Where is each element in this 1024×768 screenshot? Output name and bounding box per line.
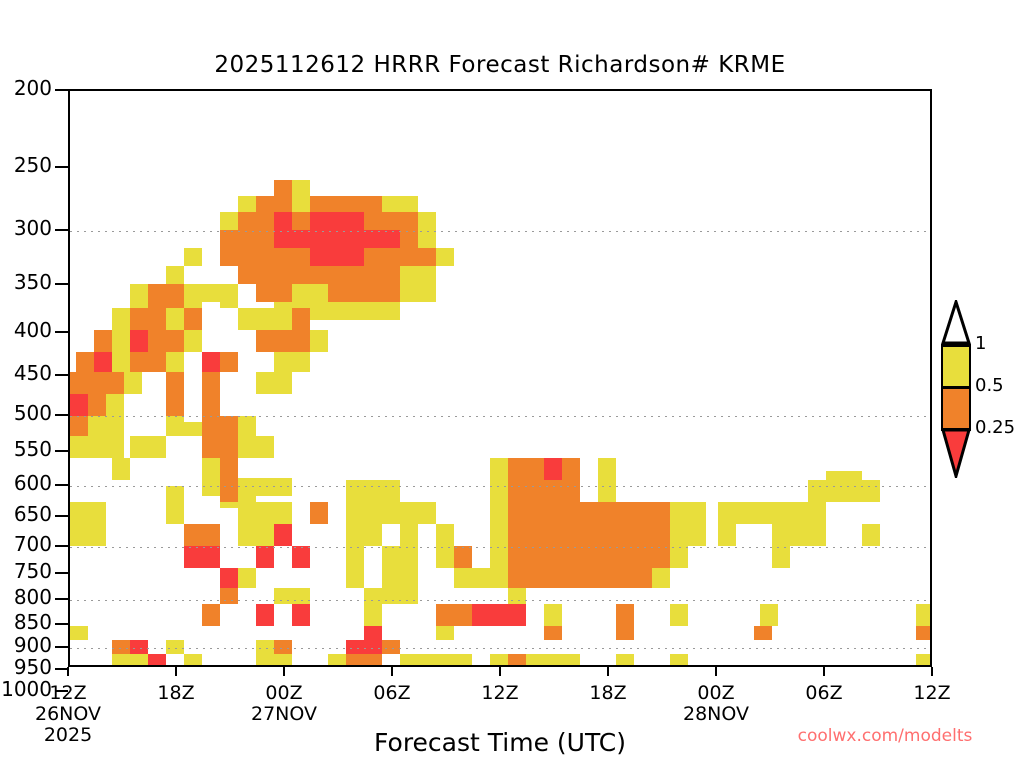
heatmap-cell — [364, 524, 382, 546]
x-axis-title: Forecast Time (UTC) — [160, 728, 840, 757]
heatmap-cell — [202, 394, 220, 416]
heatmap-cell — [166, 416, 184, 436]
heatmap-cell — [346, 480, 382, 502]
x-axis-tick — [391, 667, 393, 676]
y-axis-tick-label: 700 — [0, 532, 52, 556]
heatmap-cell — [364, 212, 418, 230]
heatmap-cell — [400, 524, 418, 546]
heatmap-cell — [70, 524, 106, 546]
heatmap-cell — [490, 524, 508, 546]
heatmap-cell — [166, 372, 184, 394]
colorbar-arrow-top — [941, 300, 971, 344]
y-axis-tick — [55, 646, 68, 648]
heatmap-cell — [346, 524, 364, 546]
heatmap-cell — [202, 372, 220, 394]
heatmap-cell — [184, 546, 220, 568]
heatmap-cell — [274, 212, 292, 230]
heatmap-cell — [202, 458, 220, 480]
heatmap-cell — [400, 248, 436, 266]
heatmap-cell — [364, 248, 400, 266]
heatmap-cell — [220, 436, 238, 458]
heatmap-cell — [220, 480, 238, 502]
heatmap-cell — [382, 640, 400, 654]
heatmap-cell — [256, 248, 310, 266]
heatmap-cell — [70, 416, 88, 436]
heatmap-cell — [112, 330, 130, 352]
heatmap-cell — [220, 568, 238, 588]
heatmap-cell — [166, 640, 184, 654]
y-axis-tick — [55, 229, 68, 231]
heatmap-cell — [274, 230, 328, 248]
heatmap-cell — [436, 248, 454, 266]
heatmap-cell — [274, 654, 292, 667]
heatmap-cell — [148, 284, 166, 308]
colorbar-segment — [941, 344, 971, 386]
heatmap-cell — [256, 604, 274, 626]
x-axis-tick — [715, 667, 717, 676]
heatmap-cell — [310, 330, 328, 352]
heatmap-cell — [70, 626, 88, 640]
heatmap-cell — [70, 436, 88, 458]
heatmap-cell — [490, 458, 508, 480]
heatmap-cell — [88, 416, 124, 436]
heatmap-cell — [184, 284, 202, 308]
heatmap-cell — [580, 524, 670, 546]
heatmap-cell — [166, 394, 184, 416]
heatmap-cell — [364, 302, 400, 320]
heatmap-cell — [238, 568, 256, 588]
heatmap-cell — [616, 654, 634, 667]
y-axis-tick-label: 250 — [0, 153, 52, 177]
heatmap-cell — [772, 546, 790, 568]
heatmap-cell — [292, 352, 310, 372]
heatmap-cell — [328, 654, 346, 667]
y-axis-tick — [55, 450, 68, 452]
x-axis-tick — [931, 667, 933, 676]
y-axis-tick-label: 750 — [0, 559, 52, 583]
colorbar-arrow-bottom — [941, 428, 971, 478]
heatmap-cell — [862, 524, 880, 546]
colorbar-tick-label: 0.5 — [975, 375, 1004, 396]
heatmap-cell — [418, 230, 436, 248]
heatmap-cell — [346, 502, 382, 524]
watermark: coolwx.com/modelts — [760, 726, 1010, 746]
heatmap-cell — [148, 330, 184, 352]
x-axis-tick-label: 06Z — [332, 682, 452, 704]
x-axis-tick — [607, 667, 609, 676]
y-axis-tick-label: 900 — [0, 633, 52, 657]
heatmap-cell — [70, 502, 106, 524]
y-axis-tick-label: 450 — [0, 361, 52, 385]
heatmap-cell — [202, 478, 220, 496]
x-axis-tick-label: 00Z — [224, 682, 344, 704]
heatmap-cell — [562, 458, 580, 480]
x-axis-tick-label: 00Z — [656, 682, 776, 704]
heatmap-cell — [256, 330, 292, 352]
x-axis-tick-label: 12Z — [440, 682, 560, 704]
heatmap-cell — [256, 640, 274, 654]
x-axis-date-label: 27NOV — [224, 703, 344, 725]
heatmap-cell — [166, 352, 184, 372]
y-axis-tick — [55, 283, 68, 285]
heatmap-cell — [382, 546, 418, 568]
heatmap-cell — [364, 604, 382, 626]
heatmap-cell — [346, 546, 364, 568]
heatmap-cell — [916, 626, 932, 640]
heatmap-cell — [220, 248, 256, 266]
heatmap-cell — [490, 654, 508, 667]
heatmap-cell — [256, 436, 274, 458]
heatmap-cell — [826, 471, 862, 502]
heatmap-cell — [400, 284, 436, 302]
x-axis-date-label: 28NOV — [656, 703, 776, 725]
heatmap-cell — [202, 284, 220, 302]
heatmap-cell — [94, 330, 112, 352]
heatmap-cell — [508, 524, 580, 546]
heatmap-cell — [202, 436, 220, 458]
heatmap-cell — [220, 212, 238, 230]
heatmap-cell — [238, 308, 274, 330]
heatmap-cell — [670, 604, 688, 626]
heatmap-cell — [106, 394, 124, 416]
heatmap-cell — [508, 458, 544, 480]
heatmap-cell — [916, 604, 932, 626]
heatmap-cell — [88, 372, 124, 394]
heatmap-cell — [292, 588, 310, 604]
y-axis-tick-label: 300 — [0, 216, 52, 240]
x-axis-tick-label: 06Z — [764, 682, 884, 704]
heatmap-cell — [130, 308, 166, 330]
heatmap-cell — [124, 372, 142, 394]
colorbar: 10.50.25 — [941, 300, 971, 480]
heatmap-cell — [508, 546, 580, 568]
heatmap-cell — [490, 502, 508, 524]
heatmap-cell — [202, 352, 220, 372]
heatmap-cell — [166, 308, 184, 330]
y-axis-tick-label: 200 — [0, 76, 52, 100]
heatmap-cell — [88, 436, 124, 458]
heatmap-cell — [544, 654, 580, 667]
heatmap-cell — [274, 478, 292, 496]
y-axis-tick-label: 650 — [0, 502, 52, 526]
y-axis-tick-label: 350 — [0, 270, 52, 294]
heatmap-cell — [220, 352, 238, 372]
heatmap-cell — [112, 458, 130, 480]
y-axis-tick — [55, 89, 68, 91]
heatmap-cell — [292, 196, 310, 212]
heatmap-cell — [580, 502, 670, 524]
heatmap-cell — [148, 654, 166, 667]
heatmap-cell — [130, 330, 148, 352]
chart-title: 2025112612 HRRR Forecast Richardson# KRM… — [0, 52, 1000, 78]
heatmap-cell — [292, 604, 310, 626]
y-axis-tick-label: 600 — [0, 471, 52, 495]
heatmap-cell — [220, 230, 238, 248]
heatmap-cell — [580, 568, 652, 588]
heatmap-cell — [184, 308, 202, 330]
heatmap-cell — [238, 196, 256, 212]
y-axis-tick — [55, 374, 68, 376]
heatmap-cell — [184, 422, 202, 436]
heatmap-cell — [70, 372, 88, 394]
heatmap-cell — [310, 212, 364, 230]
heatmap-cell — [490, 480, 508, 502]
heatmap-cell — [382, 196, 418, 212]
heatmap-cell — [88, 394, 106, 416]
y-axis-tick — [55, 545, 68, 547]
heatmap-cell — [400, 588, 418, 604]
x-axis-tick-label: 18Z — [116, 682, 236, 704]
heatmap-cell — [130, 284, 148, 308]
y-axis-tick-label: 850 — [0, 610, 52, 634]
heatmap-cell — [328, 230, 400, 248]
heatmap-cell — [598, 480, 616, 502]
x-axis-tick — [823, 667, 825, 676]
heatmap-cell — [220, 416, 238, 436]
heatmap-cell — [292, 284, 328, 302]
heatmap-cell — [670, 654, 688, 667]
heatmap-cell — [544, 604, 562, 626]
heatmap-cell — [616, 626, 634, 640]
heatmap-cell — [256, 654, 274, 667]
heatmap-cell — [508, 654, 526, 667]
heatmap-cell — [760, 604, 778, 626]
heatmap-cell — [292, 546, 310, 568]
y-axis-tick-label: 800 — [0, 585, 52, 609]
x-axis-date-label: 26NOV — [8, 703, 128, 725]
heatmap-cell — [274, 352, 292, 372]
heatmap-cell — [526, 654, 544, 667]
heatmap-cell — [490, 568, 508, 588]
heatmap-cell — [292, 330, 310, 352]
y-axis-tick-label: 500 — [0, 401, 52, 425]
heatmap-cell — [256, 372, 274, 394]
heatmap-cell — [202, 422, 220, 436]
heatmap-cell — [256, 284, 292, 302]
heatmap-cell — [436, 524, 454, 546]
heatmap-cell — [670, 524, 706, 546]
heatmap-cell — [256, 546, 274, 568]
heatmap-cell — [346, 640, 382, 654]
heatmap-plot-area — [68, 89, 932, 667]
heatmap-cell — [112, 308, 130, 330]
y-axis-tick — [55, 484, 68, 486]
heatmap-cell — [310, 502, 328, 524]
heatmap-cell — [274, 372, 292, 394]
heatmap-cell — [112, 654, 130, 667]
heatmap-cell — [364, 588, 400, 604]
heatmap-cell — [166, 284, 184, 308]
heatmap-cell — [130, 352, 166, 372]
heatmap-cell — [508, 568, 580, 588]
heatmap-cell — [184, 524, 220, 546]
heatmap-cell — [436, 546, 454, 568]
y-axis-tick — [55, 166, 68, 168]
x-axis-tick — [499, 667, 501, 676]
x-axis-tick-label: 12Z — [8, 682, 128, 704]
heatmap-cell — [220, 458, 238, 480]
heatmap-cell — [544, 626, 562, 640]
heatmap-cell — [238, 416, 256, 436]
heatmap-cell — [166, 502, 184, 524]
heatmap-cell — [616, 604, 634, 626]
y-axis-tick — [55, 572, 68, 574]
heatmap-cell — [808, 491, 826, 524]
heatmap-cell — [544, 458, 562, 480]
y-axis-tick — [55, 515, 68, 517]
heatmap-cell — [238, 502, 292, 524]
heatmap-cell — [310, 302, 364, 320]
heatmap-cell — [490, 546, 508, 568]
heatmap-cell — [274, 588, 292, 604]
heatmap-cell — [238, 436, 256, 458]
y-axis-tick — [55, 414, 68, 416]
heatmap-cell — [754, 626, 772, 640]
heatmap-cell — [238, 480, 256, 502]
heatmap-cell — [310, 196, 346, 212]
heatmap-cell — [436, 654, 472, 667]
colorbar-divider — [941, 386, 971, 389]
heatmap-cell — [508, 588, 526, 604]
heatmap-cell — [454, 546, 472, 568]
heatmap-cell — [400, 654, 436, 667]
heatmap-cell — [670, 546, 688, 568]
heatmap-cell — [274, 308, 292, 330]
heatmap-cell — [772, 524, 808, 546]
heatmap-cell — [808, 524, 826, 546]
heatmap-cell — [862, 480, 880, 502]
heatmap-cell — [454, 568, 490, 588]
y-axis-tick-label: 400 — [0, 318, 52, 342]
heatmap-cell — [184, 248, 202, 266]
x-axis-tick — [67, 667, 69, 676]
heatmap-cell — [184, 654, 202, 667]
heatmap-cell — [418, 212, 436, 230]
heatmap-cell — [238, 266, 310, 284]
heatmap-cell — [598, 458, 616, 480]
heatmap-cell — [238, 212, 274, 230]
heatmap-cell — [274, 524, 292, 546]
heatmap-cell — [202, 604, 220, 626]
colorbar-tick-label: 1 — [975, 333, 986, 354]
heatmap-cell — [76, 352, 94, 372]
heatmap-cell — [346, 568, 364, 588]
y-axis-tick-label: 550 — [0, 437, 52, 461]
x-axis-tick-label: 18Z — [548, 682, 668, 704]
heatmap-cell — [382, 568, 418, 588]
heatmap-cell — [916, 654, 932, 667]
heatmap-cell — [220, 284, 238, 308]
x-axis-tick — [283, 667, 285, 676]
heatmap-cell — [400, 230, 418, 248]
heatmap-cell — [652, 568, 670, 588]
heatmap-cell — [364, 266, 400, 284]
heatmap-cell — [130, 640, 148, 654]
heatmap-cell — [292, 212, 310, 230]
y-axis-tick-label: 950 — [0, 655, 52, 679]
heatmap-cell — [238, 524, 274, 546]
heatmap-cell — [94, 352, 112, 372]
colorbar-tick-label: 0.25 — [975, 417, 1015, 438]
y-axis-tick — [55, 331, 68, 333]
y-axis-tick — [55, 623, 68, 625]
heatmap-cell — [220, 588, 238, 604]
heatmap-cell — [580, 546, 670, 568]
heatmap-cell — [310, 266, 364, 284]
x-axis-tick-label: 12Z — [872, 682, 992, 704]
heatmap-cell — [364, 626, 382, 640]
heatmap-cell — [328, 284, 400, 302]
heatmap-cell — [400, 266, 436, 284]
heatmap-cell — [718, 524, 736, 546]
heatmap-cell — [772, 502, 808, 524]
x-axis-tick — [175, 667, 177, 676]
y-axis-tick — [55, 598, 68, 600]
x-axis-year-label: 2025 — [8, 724, 128, 746]
heatmap-cell — [508, 480, 562, 502]
heatmap-cell — [382, 502, 436, 524]
heatmap-cell — [310, 248, 364, 266]
heatmap-cell — [508, 502, 580, 524]
heatmap-cells — [70, 91, 930, 665]
heatmap-cell — [382, 480, 400, 502]
heatmap-cell — [130, 436, 166, 458]
heatmap-cell — [238, 230, 274, 248]
heatmap-cell — [346, 196, 382, 212]
heatmap-cell — [346, 654, 382, 667]
heatmap-cell — [670, 502, 706, 524]
colorbar-segment — [941, 386, 971, 428]
heatmap-cell — [292, 308, 310, 330]
heatmap-cell — [184, 330, 202, 352]
heatmap-cell — [718, 502, 772, 524]
heatmap-cell — [112, 352, 130, 372]
heatmap-cell — [70, 394, 88, 416]
heatmap-cell — [472, 604, 526, 626]
heatmap-cell — [436, 626, 454, 640]
heatmap-cell — [562, 480, 580, 502]
heatmap-cell — [256, 196, 292, 212]
